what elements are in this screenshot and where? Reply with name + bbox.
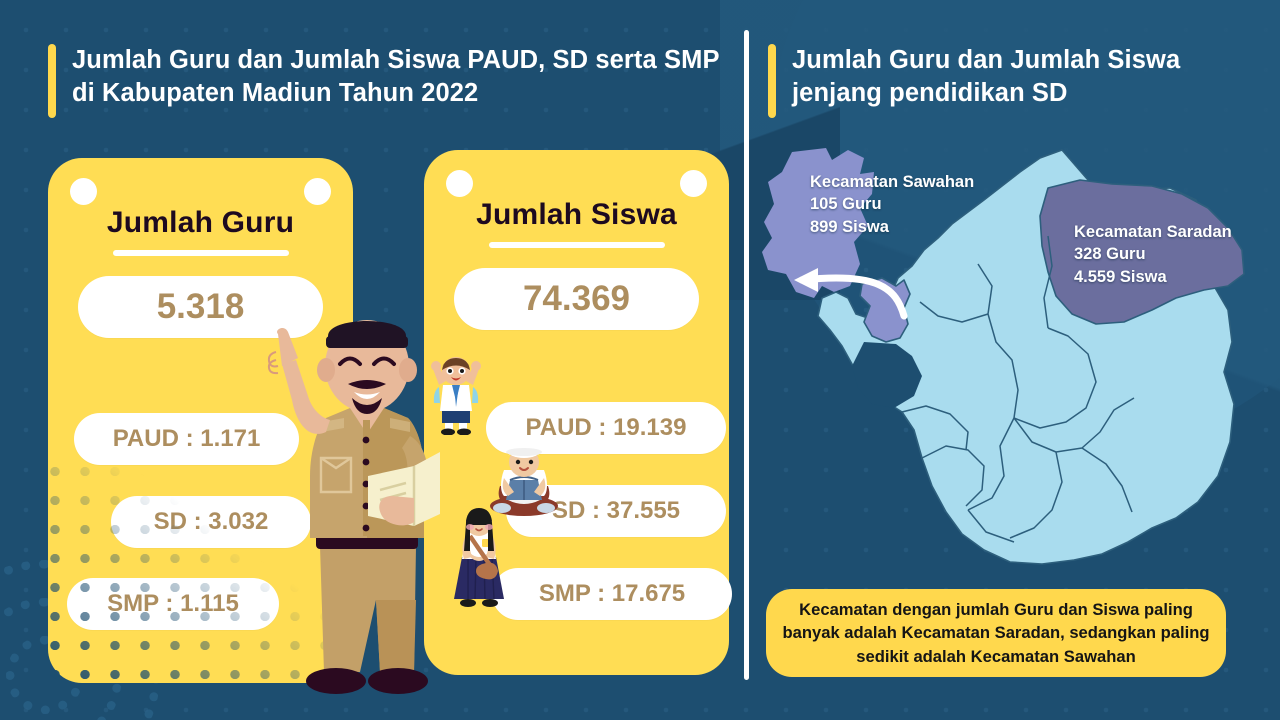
siswa-total-value: 74.369 xyxy=(454,268,699,330)
map-caption-box: Kecamatan dengan jumlah Guru dan Siswa p… xyxy=(766,589,1226,677)
right-panel-header: Jumlah Guru dan Jumlah Siswa jenjang pen… xyxy=(768,44,1238,118)
siswa-smp-value: SMP : 17.675 xyxy=(492,568,732,620)
map-label-sawahan-name: Kecamatan Sawahan xyxy=(810,171,974,193)
map-label-saradan-name: Kecamatan Saradan xyxy=(1074,221,1232,243)
punch-hole-icon xyxy=(70,178,97,205)
card-guru-title: Jumlah Guru xyxy=(48,206,353,240)
map-label-saradan-guru: 328 Guru xyxy=(1074,243,1232,265)
punch-hole-icon xyxy=(680,170,707,197)
accent-bar-icon xyxy=(48,44,56,118)
accent-bar-icon xyxy=(768,44,776,118)
title-underline xyxy=(489,242,665,248)
panel-divider xyxy=(744,30,749,680)
infographic-canvas: Jumlah Guru dan Jumlah Siswa PAUD, SD se… xyxy=(0,0,1280,720)
map-label-saradan: Kecamatan Saradan 328 Guru 4.559 Siswa xyxy=(1074,221,1232,288)
card-siswa-title: Jumlah Siswa xyxy=(424,198,729,232)
student-smp-illustration xyxy=(448,505,510,610)
map-label-sawahan-guru: 105 Guru xyxy=(810,193,974,215)
left-panel-title: Jumlah Guru dan Jumlah Siswa PAUD, SD se… xyxy=(72,44,728,109)
punch-hole-icon xyxy=(446,170,473,197)
title-underline xyxy=(113,250,289,256)
map-label-sawahan-siswa: 899 Siswa xyxy=(810,216,974,238)
map-label-saradan-siswa: 4.559 Siswa xyxy=(1074,266,1232,288)
map-label-sawahan: Kecamatan Sawahan 105 Guru 899 Siswa xyxy=(810,171,974,238)
map-caption-text: Kecamatan dengan jumlah Guru dan Siswa p… xyxy=(780,598,1212,669)
punch-hole-icon xyxy=(304,178,331,205)
student-paud-illustration xyxy=(425,355,487,435)
right-panel-title: Jumlah Guru dan Jumlah Siswa jenjang pen… xyxy=(792,44,1238,109)
left-panel-header: Jumlah Guru dan Jumlah Siswa PAUD, SD se… xyxy=(48,44,728,118)
